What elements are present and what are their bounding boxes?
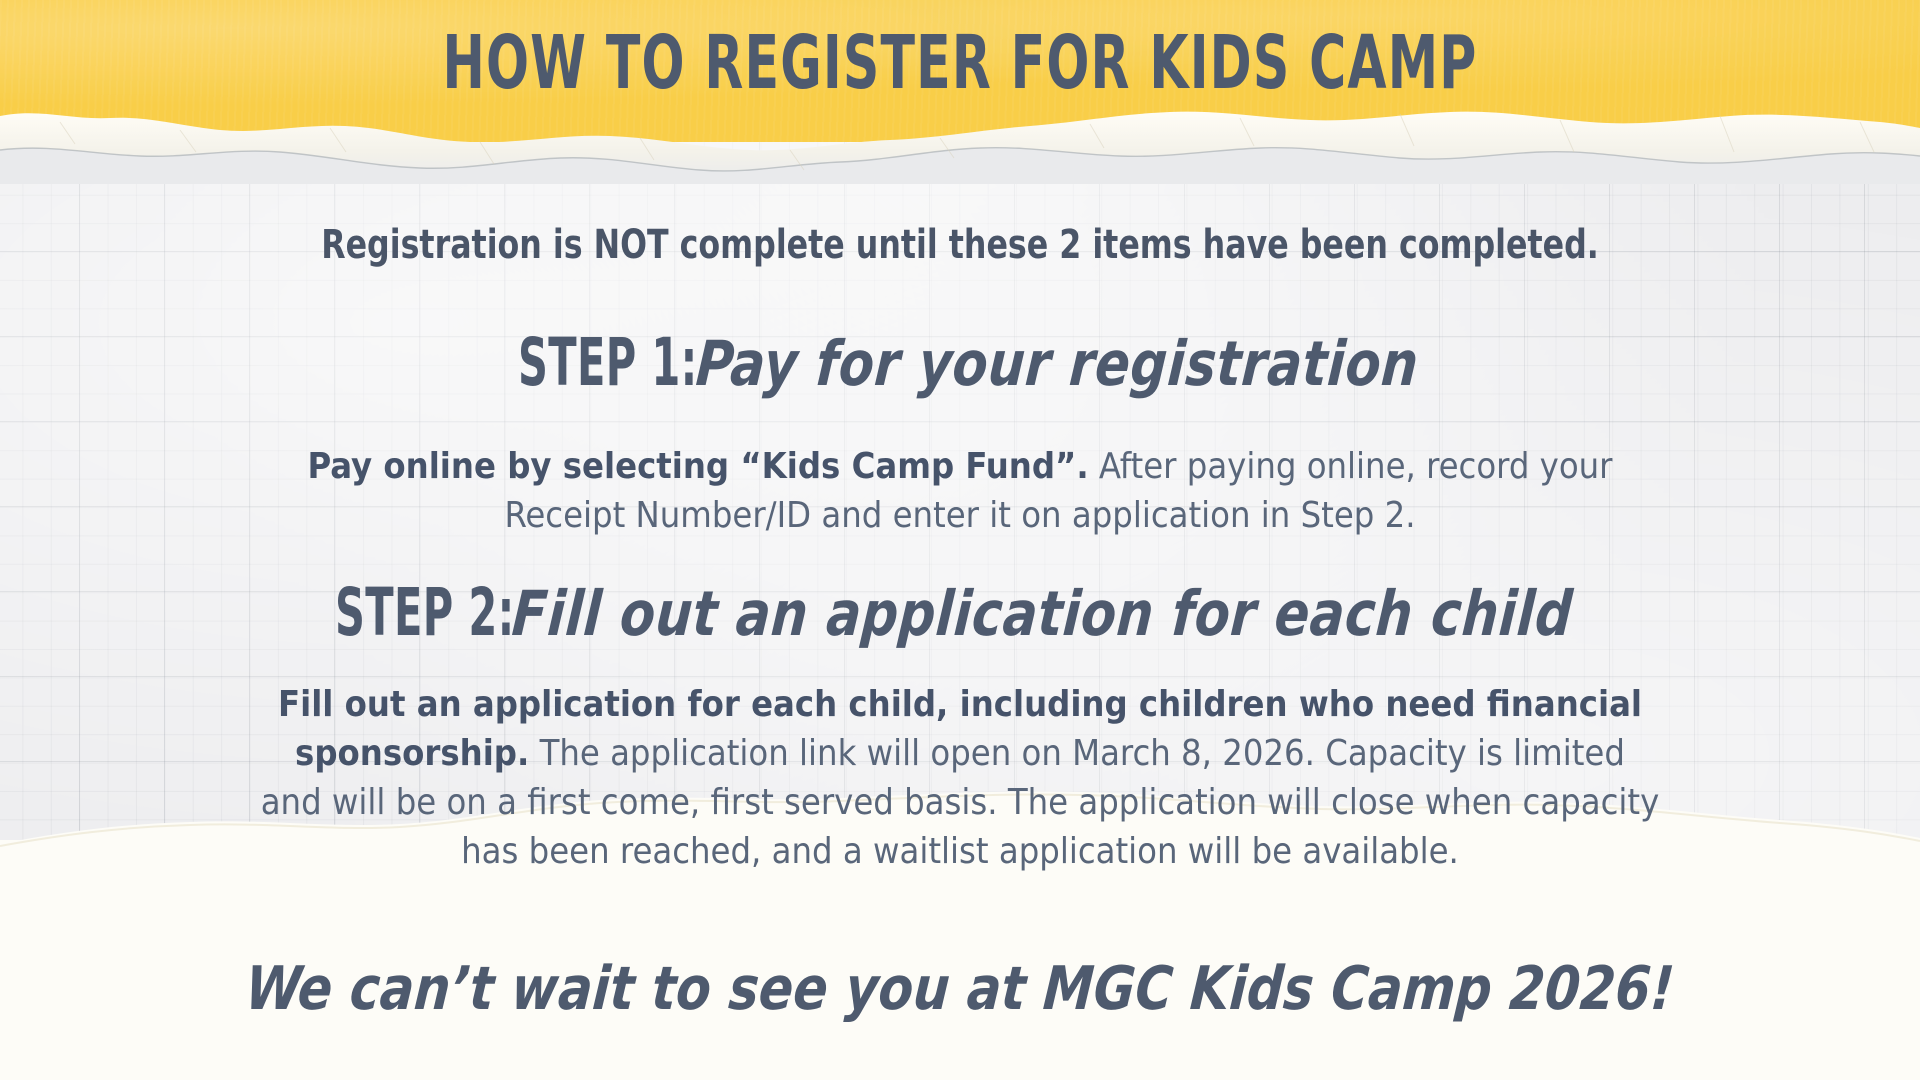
step-2-title: Fill out an application for each child	[510, 581, 1575, 647]
poster-content: Registration is NOT complete until these…	[0, 0, 1920, 1080]
subtitle: Registration is NOT complete until these…	[115, 222, 1805, 268]
step-1-title: Pay for your registration	[694, 331, 1421, 397]
step-1-body-bold: Pay online by selecting “Kids Camp Fund”…	[308, 446, 1089, 487]
step-1-body: Pay online by selecting “Kids Camp Fund”…	[260, 442, 1660, 540]
step-2-label: STEP 2:	[334, 580, 514, 646]
closing-text: We can’t wait to see you at MGC Kids Cam…	[243, 956, 1676, 1022]
step-2-body: Fill out an application for each child, …	[260, 680, 1660, 876]
closing-line: We can’t wait to see you at MGC Kids Cam…	[0, 956, 1920, 1022]
step-1-heading: STEP 1:Pay for your registration	[0, 330, 1920, 397]
step-2-heading: STEP 2:Fill out an application for each …	[0, 580, 1920, 647]
poster: HOW TO REGISTER FOR KIDS CAMP	[0, 0, 1920, 1080]
step-1-label: STEP 1:	[518, 330, 698, 396]
